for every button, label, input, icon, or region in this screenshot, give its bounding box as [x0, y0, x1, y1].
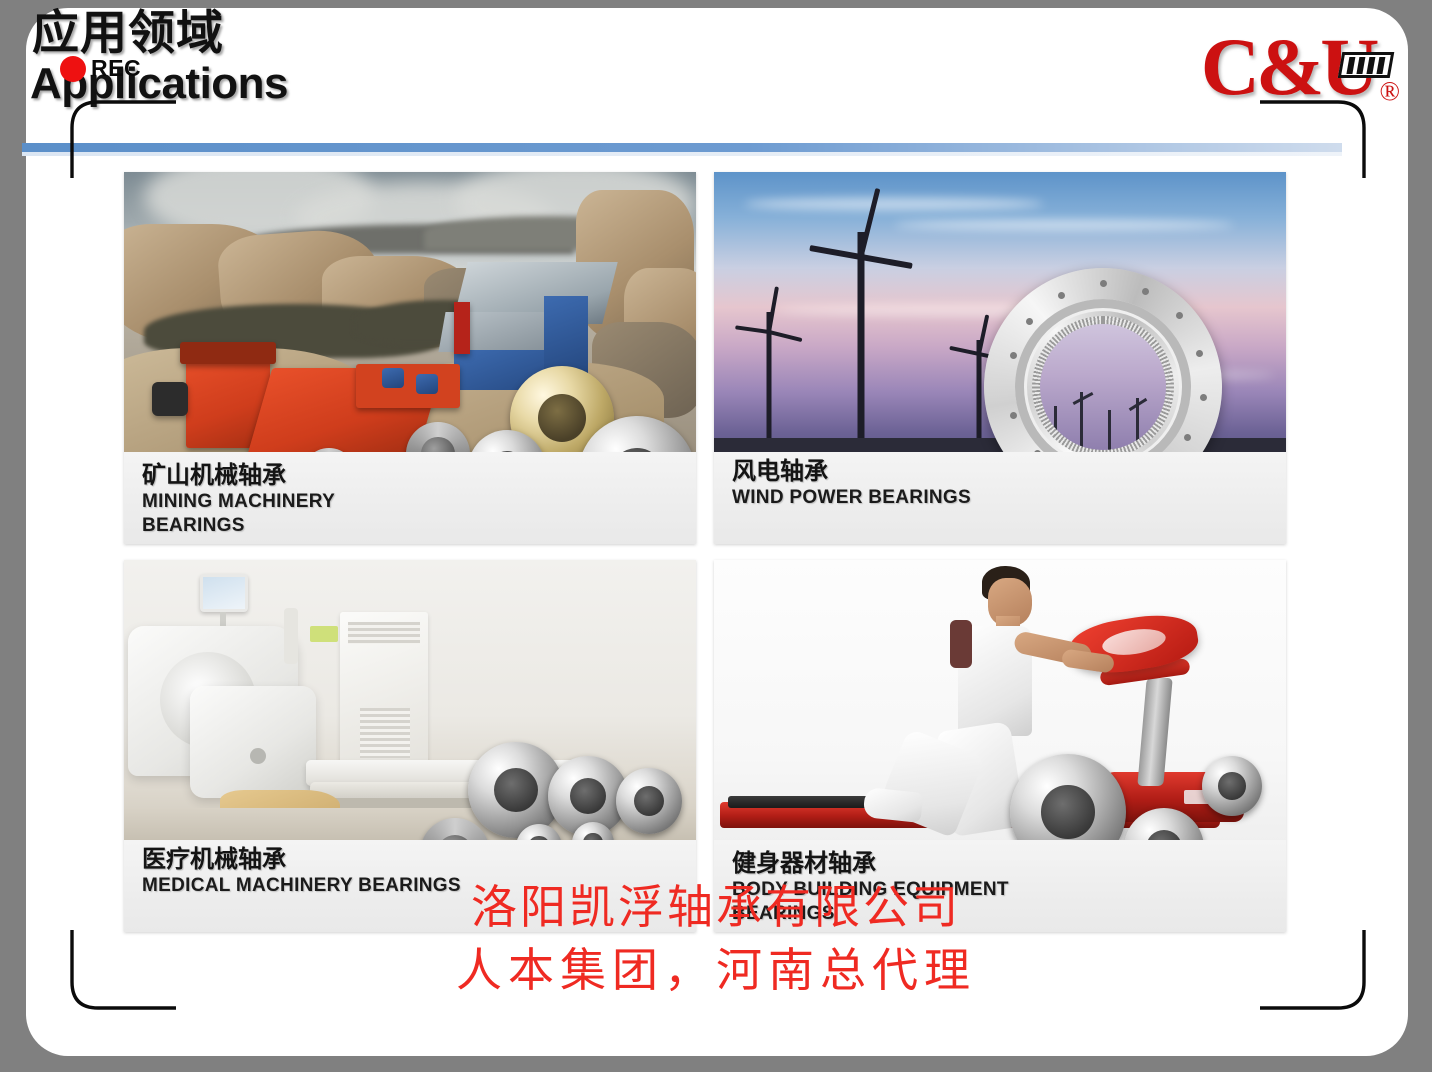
wind-caption: 风电轴承 WIND POWER BEARINGS — [714, 452, 1286, 544]
bearing-roller-icon — [1338, 52, 1395, 78]
medical-caption: 医疗机械轴承 MEDICAL MACHINERY BEARINGS — [124, 840, 696, 932]
rec-indicator: REC — [60, 55, 141, 82]
mining-title-english-2: BEARINGS — [142, 515, 696, 537]
application-card-fitness[interactable]: 健身器材轴承 BODY BUILDING EQUIPMENT BEARINGS — [714, 560, 1286, 932]
rec-dot-icon — [60, 56, 86, 82]
applications-grid: 矿山机械轴承 MINING MACHINERY BEARINGS — [124, 172, 1286, 932]
application-card-wind[interactable]: 风电轴承 WIND POWER BEARINGS — [714, 172, 1286, 544]
wind-title-english-1: WIND POWER BEARINGS — [732, 487, 1286, 509]
fitness-caption: 健身器材轴承 BODY BUILDING EQUIPMENT BEARINGS — [714, 840, 1286, 932]
mining-machinery-photo — [124, 172, 696, 454]
fitness-title-english-2: BEARINGS — [732, 903, 1286, 925]
wind-title-chinese: 风电轴承 — [732, 458, 1286, 485]
fitness-title-english-1: BODY BUILDING EQUIPMENT — [732, 879, 1286, 901]
mining-title-english-1: MINING MACHINERY — [142, 491, 696, 513]
registered-trademark-icon: ® — [1379, 76, 1400, 107]
mining-title-chinese: 矿山机械轴承 — [142, 462, 696, 489]
rec-label: REC — [91, 55, 141, 82]
page-title-chinese: 应用领域 — [32, 10, 224, 57]
slide-root: 应用领域 Applications REC C&U ® — [0, 0, 1432, 1072]
header-rule — [22, 143, 1342, 152]
mining-caption: 矿山机械轴承 MINING MACHINERY BEARINGS — [124, 452, 696, 544]
header-rule-secondary — [22, 152, 1342, 156]
fitness-title-chinese: 健身器材轴承 — [732, 850, 1286, 877]
cu-brand-logo: C&U ® — [1201, 28, 1400, 107]
body-building-equipment-photo — [714, 560, 1286, 842]
medical-title-chinese: 医疗机械轴承 — [142, 846, 696, 873]
wind-power-photo — [714, 172, 1286, 454]
medical-machinery-photo — [124, 560, 696, 842]
slide-header: 应用领域 Applications REC C&U ® — [0, 0, 1432, 160]
application-card-mining[interactable]: 矿山机械轴承 MINING MACHINERY BEARINGS — [124, 172, 696, 544]
medical-title-english-1: MEDICAL MACHINERY BEARINGS — [142, 875, 696, 897]
application-card-medical[interactable]: 医疗机械轴承 MEDICAL MACHINERY BEARINGS — [124, 560, 696, 932]
